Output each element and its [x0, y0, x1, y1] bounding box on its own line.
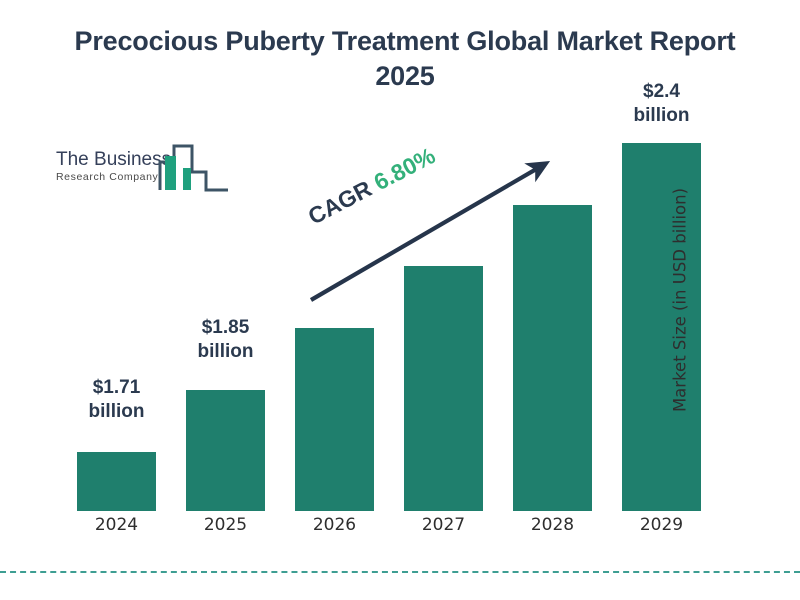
bar-2026[interactable] — [295, 328, 374, 511]
footer-divider — [0, 571, 800, 573]
bar-2028[interactable] — [513, 205, 592, 511]
data-label-2025-value: $1.85 — [166, 316, 285, 340]
data-label-2025: $1.85 billion — [166, 316, 285, 364]
bar-2025[interactable] — [186, 390, 265, 511]
x-tick-2029: 2029 — [622, 515, 701, 535]
x-tick-2027: 2027 — [404, 515, 483, 535]
data-label-2025-unit: billion — [166, 340, 285, 364]
bar-2024[interactable] — [77, 452, 156, 511]
x-tick-2026: 2026 — [295, 515, 374, 535]
data-label-2029-value: $2.4 — [602, 80, 721, 104]
chart-page: Precocious Puberty Treatment Global Mark… — [0, 0, 800, 600]
x-tick-2024: 2024 — [77, 515, 156, 535]
data-label-2029: $2.4 billion — [602, 80, 721, 128]
data-label-2024-value: $1.71 — [57, 376, 176, 400]
data-label-2024: $1.71 billion — [57, 376, 176, 424]
data-label-2024-unit: billion — [57, 400, 176, 424]
data-label-2029-unit: billion — [602, 104, 721, 128]
bar-2027[interactable] — [404, 266, 483, 511]
y-axis-title: Market Size (in USD billion) — [670, 188, 689, 412]
x-tick-2028: 2028 — [513, 515, 592, 535]
x-tick-2025: 2025 — [186, 515, 265, 535]
